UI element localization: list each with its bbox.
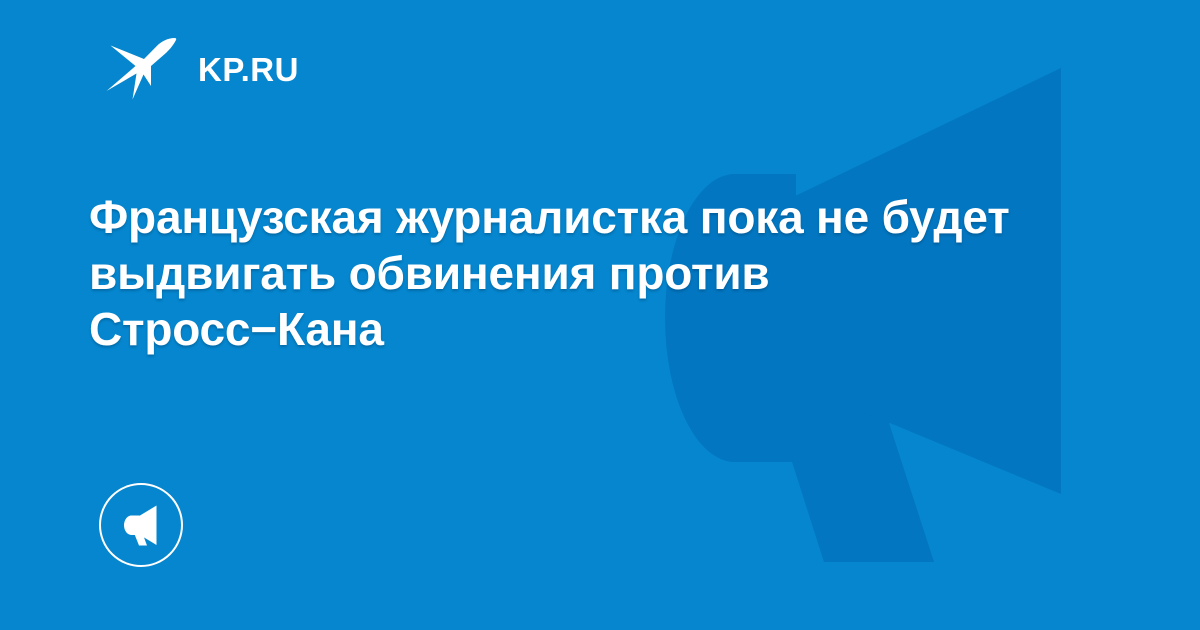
brand-logo[interactable]: KP.RU [104, 36, 299, 102]
megaphone-badge[interactable] [99, 483, 183, 567]
megaphone-icon [118, 504, 164, 547]
swallow-bird-icon [104, 36, 178, 102]
share-card: KP.RU Французская журналистка пока не бу… [0, 0, 1200, 630]
brand-name-label: KP.RU [198, 53, 299, 86]
headline-title: Французская журналистка пока не будет вы… [89, 189, 1069, 357]
